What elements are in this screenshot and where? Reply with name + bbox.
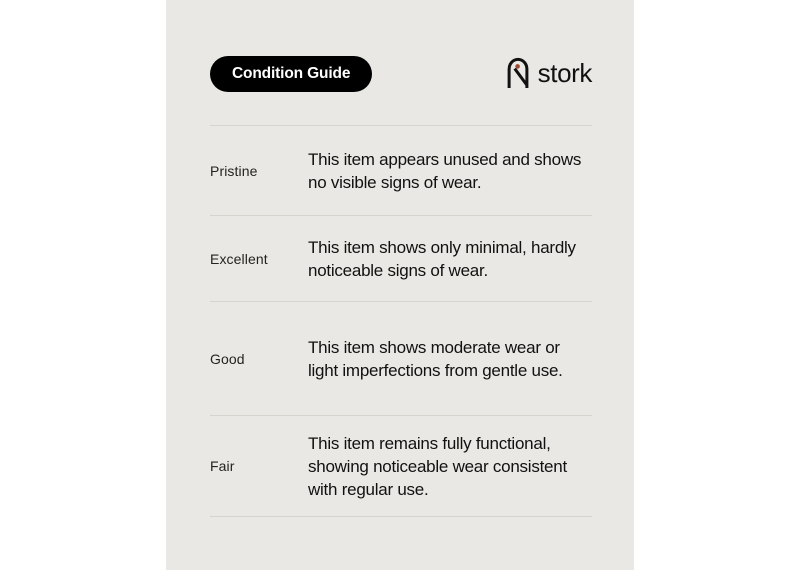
table-row: Fair This item remains fully functional,…: [210, 416, 592, 516]
brand-lockup: stork: [506, 57, 592, 88]
divider-bottom: [210, 516, 592, 517]
condition-description: This item shows moderate wear or light i…: [308, 336, 592, 382]
card-header: Condition Guide stork: [210, 56, 592, 92]
brand-name: stork: [538, 60, 592, 86]
condition-description: This item remains fully functional, show…: [308, 432, 592, 501]
condition-table: Pristine This item appears unused and sh…: [210, 125, 592, 517]
condition-guide-pill-label: Condition Guide: [232, 65, 350, 83]
condition-term: Pristine: [210, 163, 308, 179]
condition-term: Fair: [210, 458, 308, 474]
condition-term: Good: [210, 351, 308, 367]
table-row: Pristine This item appears unused and sh…: [210, 126, 592, 215]
condition-description: This item shows only minimal, hardly not…: [308, 236, 592, 282]
condition-term: Excellent: [210, 251, 308, 267]
stork-arch-icon: [506, 57, 530, 88]
condition-description: This item appears unused and shows no vi…: [308, 148, 592, 194]
page-root: Condition Guide stork Pristine This item…: [0, 0, 800, 570]
condition-guide-pill: Condition Guide: [210, 56, 372, 92]
condition-guide-card: Condition Guide stork Pristine This item…: [166, 0, 634, 570]
table-row: Good This item shows moderate wear or li…: [210, 302, 592, 415]
table-row: Excellent This item shows only minimal, …: [210, 216, 592, 301]
